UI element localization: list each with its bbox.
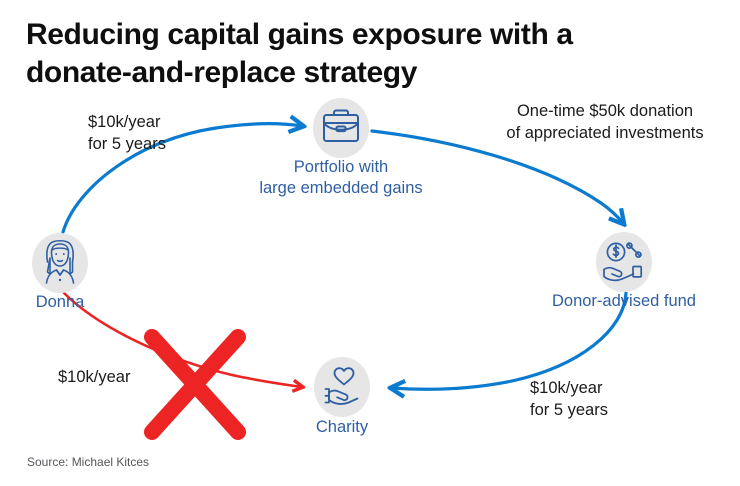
node-portfolio[interactable] xyxy=(313,98,369,158)
node-donna[interactable] xyxy=(32,233,88,293)
edge-label-daf-to-charity: $10k/year for 5 years xyxy=(530,378,690,422)
node-label-donor-advised-fund: Donor-advised fund xyxy=(524,291,724,312)
node-label-portfolio: Portfolio with large embedded gains xyxy=(241,157,441,199)
edge-label-donna-to-charity: $10k/year xyxy=(58,367,198,389)
source-attribution: Source: Michael Kitces xyxy=(27,455,149,469)
node-label-charity: Charity xyxy=(292,417,392,438)
edge-label-donna-to-portfolio: $10k/year for 5 years xyxy=(88,112,248,156)
node-donor-advised-fund[interactable] xyxy=(596,232,652,292)
node-donna-circle xyxy=(32,233,88,293)
node-charity-circle xyxy=(314,357,370,417)
edge-label-portfolio-to-daf: One-time $50k donation of appreciated in… xyxy=(480,101,730,145)
node-portfolio-circle xyxy=(313,98,369,158)
node-charity[interactable] xyxy=(314,357,370,417)
node-daf-circle xyxy=(596,232,652,292)
node-label-donna: Donna xyxy=(10,292,110,313)
